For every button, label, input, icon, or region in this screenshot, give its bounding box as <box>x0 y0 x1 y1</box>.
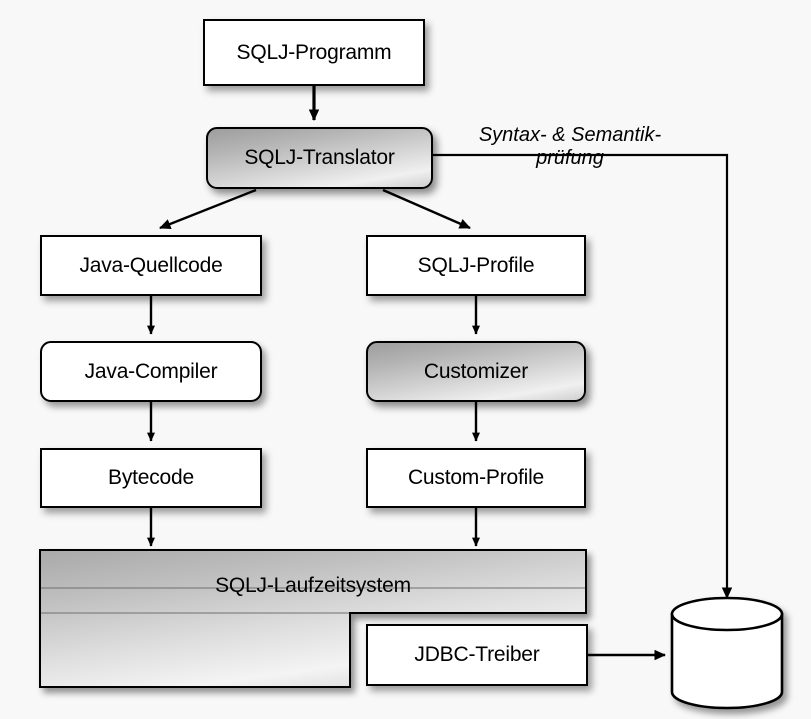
annotation-syntax-check: Syntax- & Semantik- prüfung <box>450 124 690 170</box>
diagram-canvas: SQLJ-Laufzeitsystem <box>0 0 811 719</box>
node-datenbank[interactable] <box>672 598 782 708</box>
database-layer <box>0 0 811 719</box>
